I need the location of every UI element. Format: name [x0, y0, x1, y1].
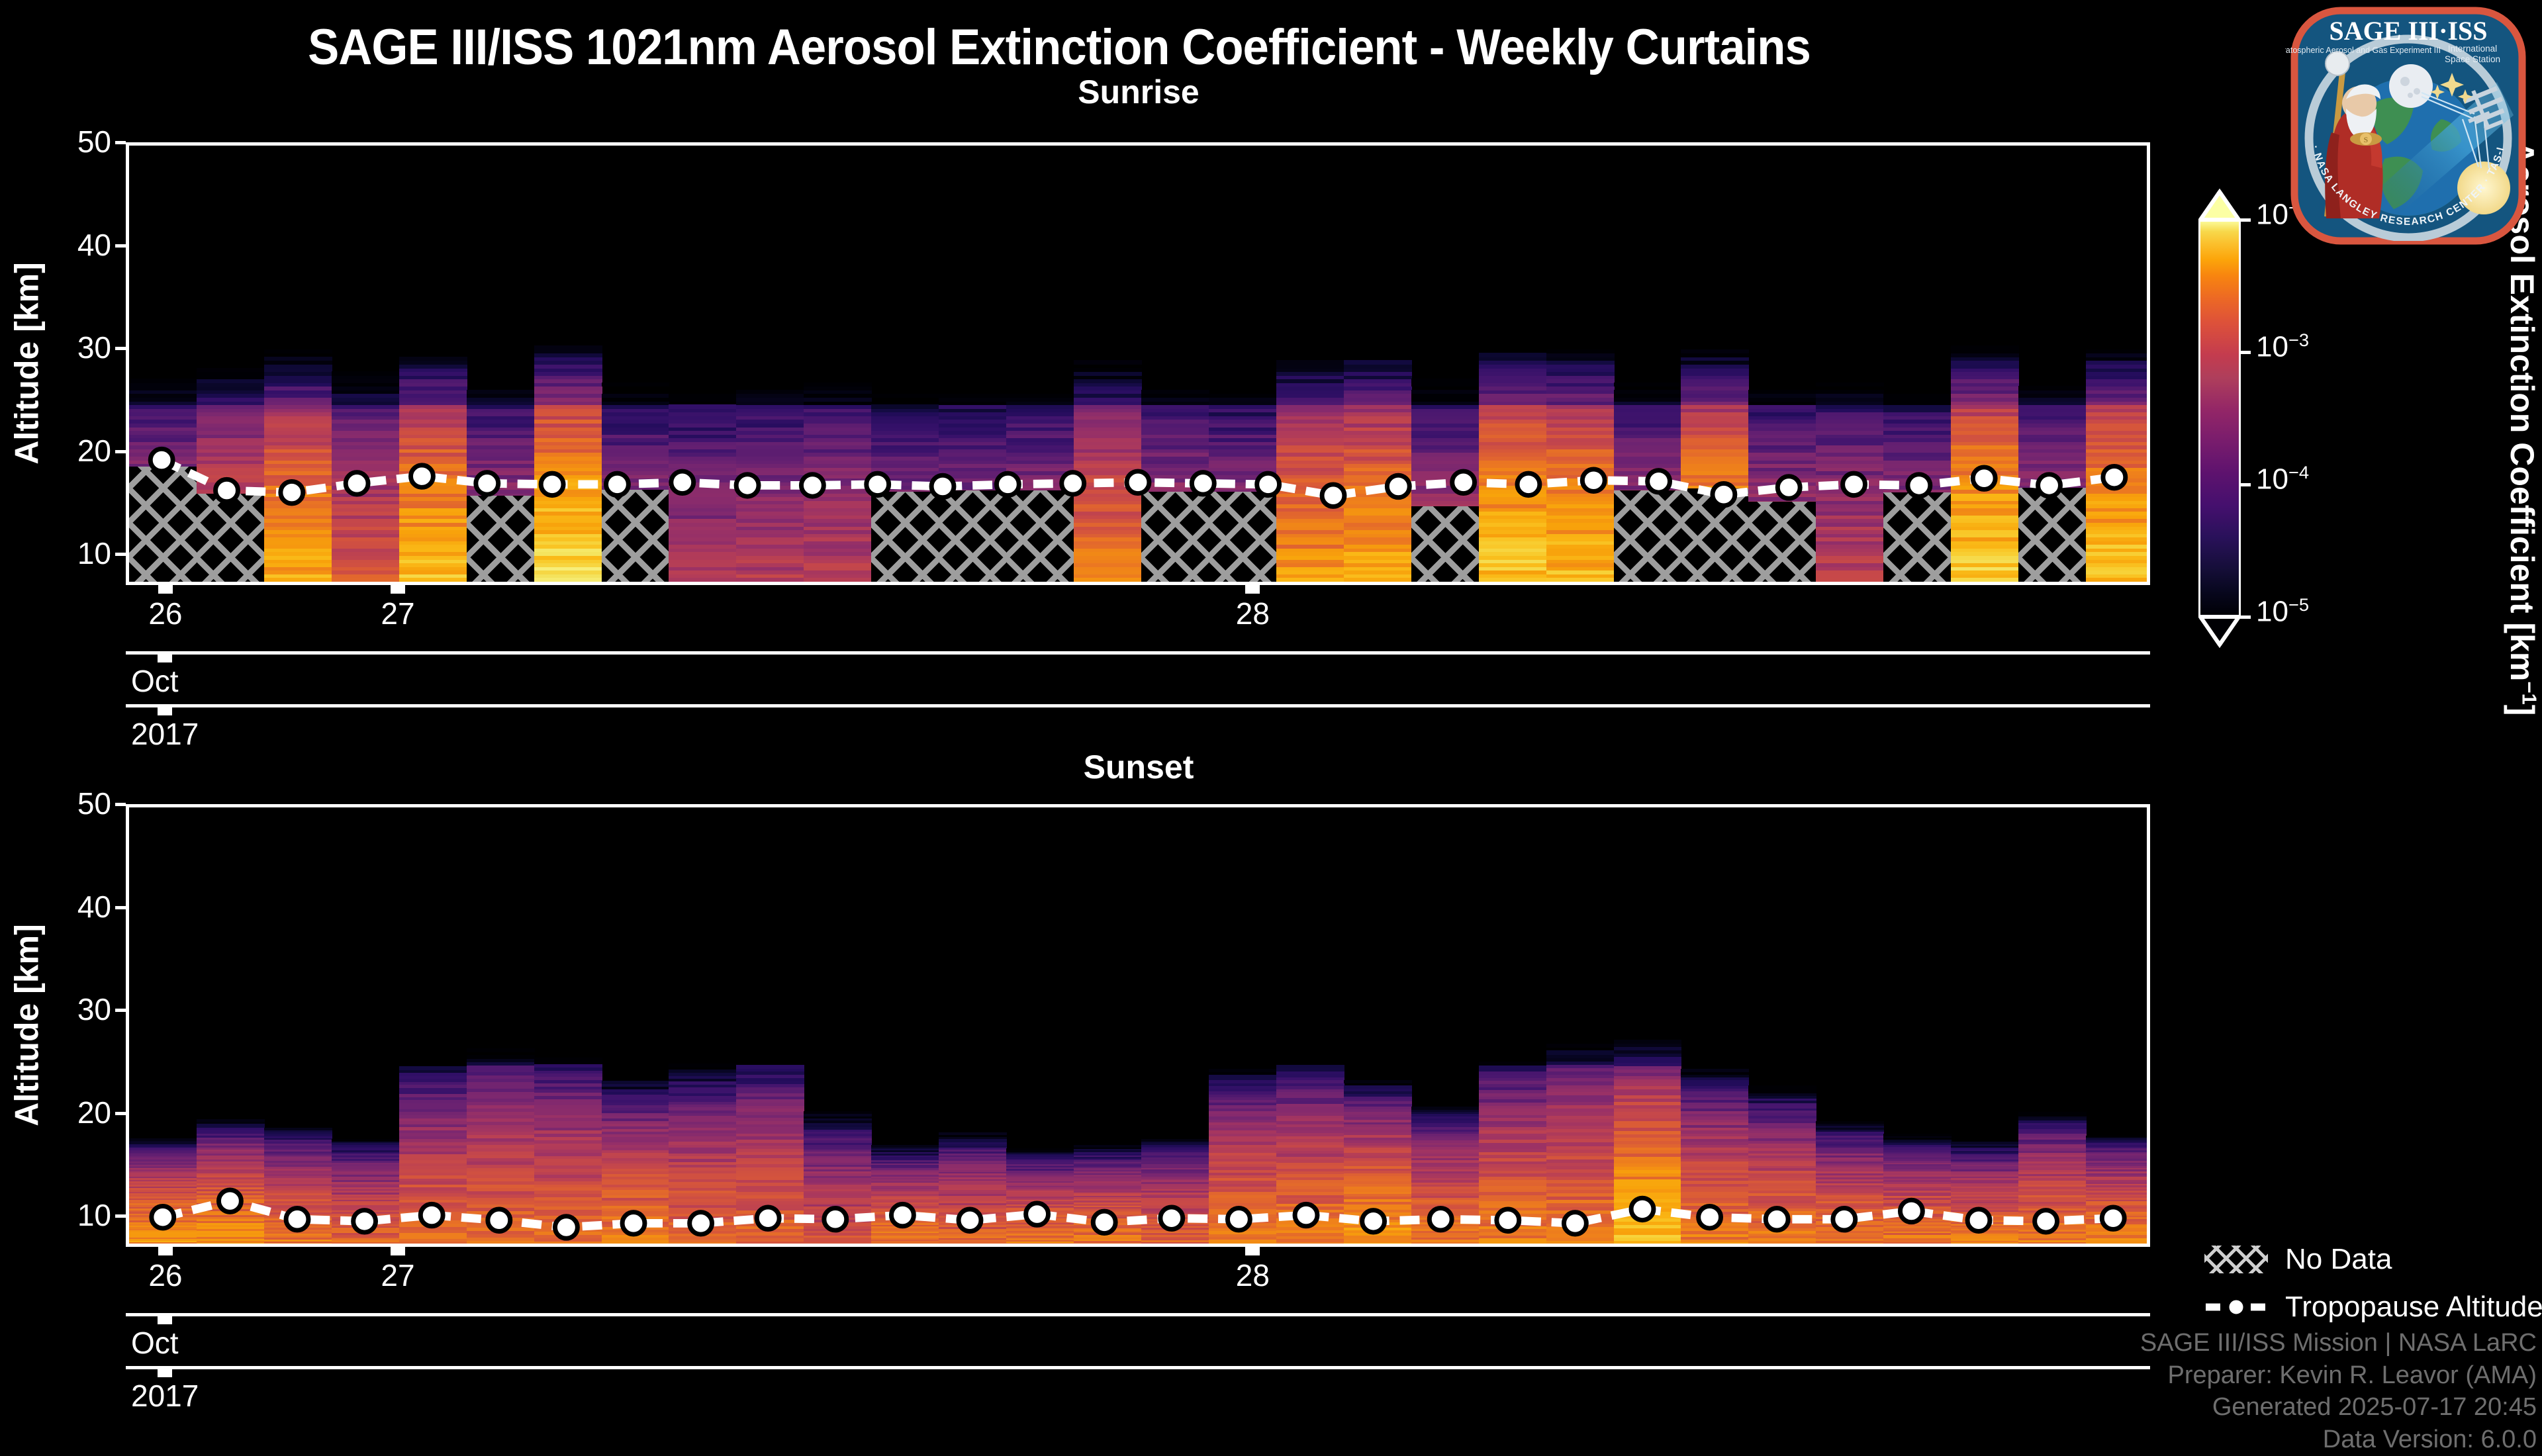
x-axis-level-rule-sunrise-month: [126, 651, 2150, 655]
heatmap-cell: [1816, 1244, 1884, 1247]
heatmap-cell: [804, 1246, 872, 1247]
no-data-hatch-region: [1141, 492, 1209, 585]
heatmap-cell: [939, 1132, 1007, 1135]
colorbar-tick-label-10e-4: 10−4: [2256, 462, 2309, 496]
footer-line-preparer: Preparer: Kevin R. Leavor (AMA): [2140, 1359, 2537, 1392]
heatmap-cell: [1006, 1244, 1074, 1246]
heatmap-cell: [1209, 1245, 1277, 1247]
heatmap-cell: [197, 1246, 265, 1247]
heatmap-cell: [467, 1048, 535, 1052]
heatmap-cell: [1074, 1246, 1142, 1247]
heatmap-column: [264, 807, 332, 1244]
y-tick-label-sunrise-50: 50: [38, 124, 111, 159]
heatmap-cell: [1074, 584, 1142, 585]
heatmap-cell: [1006, 1246, 1074, 1247]
no-data-hatch-region: [871, 492, 939, 585]
heatmap-sunset: [129, 807, 2147, 1244]
heatmap-cell: [1816, 584, 1884, 585]
heatmap-cell: [669, 584, 737, 585]
heatmap-cell: [2018, 1112, 2087, 1115]
heatmap-cell: [669, 394, 737, 398]
y-tick-label-sunset-50: 50: [38, 786, 111, 821]
heatmap-cell: [1411, 379, 1480, 383]
colorbar-gradient: [2200, 220, 2239, 617]
x-tick-label-sunset-day-28: 28: [1186, 1257, 1319, 1293]
heatmap-column: [264, 146, 332, 582]
x-tick-mark-sunrise-28: [1245, 585, 1260, 594]
heatmap-cell: [264, 584, 332, 585]
heatmap-cell: [264, 1246, 332, 1247]
heatmap-column: [332, 807, 400, 1244]
x-tick-mark-sunrise-26: [158, 585, 173, 594]
heatmap-cell: [1344, 1085, 1412, 1089]
heatmap-column: [197, 807, 265, 1244]
heatmap-cell: [399, 584, 467, 585]
heatmap-cell: [1074, 1145, 1142, 1147]
x-tick-label-sunrise-day-28: 28: [1186, 596, 1319, 631]
heatmap-cell: [1748, 1085, 1816, 1089]
heatmap-cell: [2086, 1245, 2150, 1247]
heatmap-cell: [1411, 1246, 1480, 1247]
heatmap-cell: [467, 1244, 535, 1247]
heatmap-cell: [1344, 1080, 1412, 1083]
heatmap-column: [1546, 807, 1615, 1244]
heatmap-cell: [939, 1245, 1007, 1247]
heatmap-cell: [804, 1111, 872, 1114]
y-tick-label-sunset-10: 10: [38, 1197, 111, 1233]
heatmap-cell: [197, 1244, 265, 1247]
heatmap-cell: [1141, 1245, 1209, 1247]
footer-metadata: SAGE III/ISS Mission | NASA LaRC Prepare…: [2140, 1327, 2537, 1456]
heatmap-column: [1681, 807, 1749, 1244]
x-tick-mark-sunset-27: [391, 1247, 405, 1255]
x-tick-mark-sunset-26: [158, 1247, 173, 1255]
heatmap-cell: [1141, 1139, 1209, 1142]
heatmap-cell: [399, 357, 467, 361]
heatmap-cell: [1748, 1245, 1816, 1247]
heatmap-cell: [1614, 383, 1682, 387]
logo-subtitle-right-2: Space Station: [2445, 54, 2500, 64]
heatmap-cell: [2018, 386, 2087, 390]
heatmap-cell: [1479, 353, 1547, 357]
heatmap-cell: [264, 349, 332, 354]
heatmap-column: [1006, 807, 1074, 1244]
heatmap-cell: [669, 1064, 737, 1067]
heatmap-column: [1276, 807, 1344, 1244]
heatmap-cell: [1074, 360, 1142, 365]
y-tick-mark-sunrise-20: [115, 450, 126, 453]
heatmap-cell: [332, 584, 400, 585]
no-data-hatch-region: [1411, 506, 1480, 585]
heatmap-cell: [467, 390, 535, 394]
heatmap-cell: [2086, 1136, 2150, 1138]
colorbar[interactable]: [2191, 185, 2251, 649]
heatmap-column: [1883, 807, 1952, 1244]
x-tick-label-sunrise-day-27: 27: [332, 596, 464, 631]
y-tick-mark-sunset-30: [115, 1009, 126, 1012]
y-tick-mark-sunrise-50: [115, 141, 126, 144]
heatmap-cell: [602, 1081, 670, 1084]
panel-title-sunrise: Sunrise: [126, 73, 2151, 111]
heatmap-column: [1411, 807, 1480, 1244]
heatmap-column: [1479, 146, 1547, 582]
heatmap-cell: [1951, 1244, 2019, 1246]
y-tick-mark-sunrise-30: [115, 347, 126, 350]
heatmap-column: [1276, 146, 1344, 582]
heatmap-cell: [1816, 1246, 1884, 1247]
heatmap-cell: [1276, 360, 1344, 365]
no-data-hatch-region: [1748, 502, 1816, 585]
heatmap-cell: [197, 1119, 265, 1122]
heatmap-cell: [1074, 368, 1142, 373]
heatmap-column: [1344, 807, 1412, 1244]
heatmap-cell: [534, 1244, 602, 1247]
heatmap-cell: [1209, 1069, 1277, 1072]
heatmap-cell: [871, 1246, 939, 1247]
no-data-hatch-region: [129, 467, 197, 585]
heatmap-column: [1479, 807, 1547, 1244]
heatmap-cell: [1344, 360, 1412, 365]
heatmap-cell: [1276, 1065, 1344, 1068]
y-tick-label-sunrise-30: 30: [38, 330, 111, 365]
heatmap-column: [1546, 146, 1615, 582]
heatmap-cell: [1344, 584, 1412, 585]
colorbar-tick-label-10e-3: 10−3: [2256, 330, 2309, 364]
legend-label-tropopause: Tropopause Altitude: [2285, 1291, 2542, 1324]
heatmap-column: [129, 807, 197, 1244]
heatmap-column: [1074, 807, 1142, 1244]
heatmap-cell: [1479, 1062, 1547, 1066]
heatmap-cell: [1006, 1148, 1074, 1150]
heatmap-column: [332, 146, 400, 582]
heatmap-cell: [467, 1055, 535, 1059]
no-data-hatch-region: [1883, 492, 1952, 585]
heatmap-cell: [264, 1244, 332, 1247]
heatmap-cell: [939, 394, 1007, 398]
x-tick-mark-sunrise-27: [391, 585, 405, 594]
heatmap-column: [804, 807, 872, 1244]
heatmap-column: [1951, 807, 2019, 1244]
x-axis-level-label-sunset-year: 2017: [131, 1378, 199, 1414]
heatmap-cell: [1546, 1050, 1615, 1054]
heatmap-cell: [1816, 383, 1884, 387]
heatmap-column: [1816, 807, 1884, 1244]
x-tick-mark-sunrise-year: [158, 707, 172, 715]
x-tick-label-sunset-day-26: 26: [99, 1257, 232, 1293]
x-axis-level-label-sunset-month: Oct: [131, 1325, 179, 1361]
colorbar-tick-mark-10e-3: [2239, 351, 2251, 354]
x-axis-level-rule-sunset-year: [126, 1366, 2150, 1369]
heatmap-column: [1816, 146, 1884, 582]
heatmap-column: [1141, 807, 1209, 1244]
heatmap-column: [2086, 807, 2150, 1244]
heatmap-column: [602, 807, 670, 1244]
heatmap-cell: [1411, 1244, 1480, 1246]
x-tick-mark-sunset-year: [158, 1369, 172, 1377]
heatmap-cell: [736, 390, 804, 394]
heatmap-cell: [939, 1246, 1007, 1247]
heatmap-cell: [1546, 1244, 1615, 1247]
heatmap-cell: [1411, 1107, 1480, 1109]
heatmap-cell: [669, 1069, 737, 1073]
x-axis-level-rule-sunset-month: [126, 1313, 2150, 1316]
x-tick-mark-sunset-28: [1245, 1247, 1260, 1255]
x-tick-mark-sunset-month: [158, 1316, 172, 1324]
heatmap-cell: [332, 1139, 400, 1142]
tropopause-line-swatch: [2204, 1293, 2268, 1321]
heatmap-column: [534, 807, 602, 1244]
heatmap-cell: [1816, 1121, 1884, 1124]
sage-iii-iss-mission-patch: S SAGE III·ISS Stratospheric Aerosol and…: [2285, 3, 2531, 249]
heatmap-cell: [602, 394, 670, 398]
footer-line-mission: SAGE III/ISS Mission | NASA LaRC: [2140, 1327, 2537, 1359]
heatmap-cell: [129, 1244, 197, 1246]
panel-title-sunset: Sunset: [126, 748, 2151, 786]
heatmap-cell: [871, 394, 939, 398]
heatmap-cell: [1883, 1245, 1952, 1247]
heatmap-cell: [804, 584, 872, 585]
heatmap-cell: [602, 383, 670, 387]
x-tick-label-sunrise-day-26: 26: [99, 596, 232, 631]
heatmap-cell: [1614, 1244, 1682, 1247]
y-tick-mark-sunset-50: [115, 803, 126, 806]
y-tick-mark-sunset-20: [115, 1112, 126, 1115]
heatmap-cell: [399, 1066, 467, 1070]
plot-area-sunrise[interactable]: [126, 142, 2150, 585]
heatmap-column: [736, 146, 804, 582]
no-data-hatch-region: [939, 490, 1007, 585]
y-tick-mark-sunrise-40: [115, 244, 126, 248]
y-tick-label-sunset-40: 40: [38, 889, 111, 925]
heatmap-cell: [871, 1244, 939, 1246]
heatmap-cell: [1546, 349, 1615, 354]
heatmap-cell: [264, 1128, 332, 1130]
page-title: SAGE III/ISS 1021nm Aerosol Extinction C…: [74, 19, 2044, 76]
heatmap-cell: [1276, 1244, 1344, 1247]
y-tick-mark-sunset-40: [115, 906, 126, 909]
no-data-hatch-region: [1209, 492, 1277, 585]
heatmap-cell: [2086, 584, 2150, 585]
heatmap-cell: [534, 345, 602, 350]
x-axis-level-rule-sunrise-year: [126, 704, 2150, 707]
heatmap-column: [534, 146, 602, 582]
heatmap-cell: [736, 1244, 804, 1247]
no-data-hatch-region: [467, 496, 535, 585]
no-data-hatch-region: [602, 490, 670, 585]
heatmap-cell: [1816, 390, 1884, 394]
heatmap-cell: [1276, 584, 1344, 585]
x-tick-label-sunset-day-27: 27: [332, 1257, 464, 1293]
heatmap-column: [1209, 807, 1277, 1244]
legend-item-no-data: No Data: [2204, 1243, 2392, 1276]
y-tick-mark-sunset-10: [115, 1214, 126, 1218]
colorbar-tick-mark-10e-2: [2239, 218, 2251, 222]
x-axis-level-label-sunrise-month: Oct: [131, 663, 179, 699]
heatmap-cell: [2018, 1244, 2087, 1246]
y-tick-label-sunset-20: 20: [38, 1095, 111, 1130]
heatmap-column: [1074, 146, 1142, 582]
heatmap-cell: [332, 1245, 400, 1247]
heatmap-cell: [2018, 1246, 2087, 1247]
no-data-hatch-region: [1006, 490, 1074, 585]
heatmap-cell: [871, 404, 939, 409]
y-tick-mark-sunrise-10: [115, 553, 126, 556]
heatmap-sunrise: [129, 146, 2147, 582]
legend-label-no-data: No Data: [2285, 1243, 2392, 1276]
heatmap-cell: [399, 1244, 467, 1247]
heatmap-cell: [129, 379, 197, 383]
no-data-hatch-region: [2018, 488, 2087, 585]
heatmap-cell: [332, 371, 400, 376]
heatmap-cell: [534, 584, 602, 585]
heatmap-cell: [669, 404, 737, 409]
colorbar-tick-mark-10e-4: [2239, 483, 2251, 486]
heatmap-cell: [1681, 349, 1749, 354]
heatmap-cell: [1546, 1044, 1615, 1048]
heatmap-column: [669, 146, 737, 582]
heatmap-cell: [534, 1058, 602, 1062]
heatmap-column: [1748, 807, 1816, 1244]
heatmap-column: [736, 807, 804, 1244]
heatmap-column: [399, 807, 467, 1244]
heatmap-cell: [1951, 1142, 2019, 1144]
heatmap-cell: [1141, 390, 1209, 394]
y-tick-label-sunset-30: 30: [38, 991, 111, 1027]
heatmap-cell: [1074, 1244, 1142, 1246]
heatmap-column: [399, 146, 467, 582]
colorbar-tick-label-10e-5: 10−5: [2256, 594, 2309, 629]
heatmap-column: [804, 146, 872, 582]
y-tick-label-sunrise-10: 10: [38, 535, 111, 571]
heatmap-column: [467, 807, 535, 1244]
logo-subtitle-left: Stratospheric Aerosol and Gas Experiment…: [2285, 46, 2441, 55]
heatmap-cell: [736, 1065, 804, 1069]
heatmap-cell: [2086, 349, 2150, 354]
heatmap-cell: [1209, 394, 1277, 398]
heatmap-cell: [1951, 345, 2019, 350]
heatmap-cell: [1951, 1245, 2019, 1247]
no-data-hatch-swatch: [2204, 1246, 2268, 1273]
footer-line-version: Data Version: 6.0.0: [2140, 1424, 2537, 1456]
colorbar-tick-mark-10e-5: [2239, 615, 2251, 619]
footer-line-generated: Generated 2025-07-17 20:45: [2140, 1391, 2537, 1424]
heatmap-column: [2086, 146, 2150, 582]
heatmap-cell: [871, 1145, 939, 1147]
y-tick-label-sunrise-20: 20: [38, 433, 111, 469]
heatmap-cell: [1681, 1069, 1749, 1072]
heatmap-cell: [1479, 584, 1547, 585]
heatmap-cell: [804, 1244, 872, 1246]
heatmap-cell: [1681, 1245, 1749, 1247]
heatmap-cell: [1411, 390, 1480, 394]
heatmap-cell: [1883, 394, 1952, 398]
plot-area-sunset[interactable]: [126, 804, 2150, 1247]
heatmap-cell: [129, 1138, 197, 1141]
heatmap-cell: [1951, 584, 2019, 585]
x-tick-mark-sunrise-month: [158, 654, 172, 662]
x-axis-level-label-sunrise-year: 2017: [131, 716, 199, 752]
heatmap-cell: [602, 1245, 670, 1247]
heatmap-column: [1951, 146, 2019, 582]
y-tick-label-sunrise-40: 40: [38, 227, 111, 263]
heatmap-cell: [264, 357, 332, 361]
logo-title: SAGE III·ISS: [2329, 16, 2487, 46]
heatmap-cell: [1006, 394, 1074, 398]
heatmap-cell: [736, 584, 804, 585]
heatmap-cell: [1546, 584, 1615, 585]
svg-text:S: S: [2364, 135, 2369, 144]
heatmap-column: [2018, 807, 2087, 1244]
heatmap-column: [871, 807, 939, 1244]
heatmap-cell: [1614, 1040, 1682, 1044]
heatmap-cell: [1883, 1134, 1952, 1136]
heatmap-cell: [804, 383, 872, 387]
heatmap-cell: [1344, 1245, 1412, 1247]
heatmap-column: [1344, 146, 1412, 582]
legend-item-tropopause: Tropopause Altitude: [2204, 1291, 2542, 1324]
heatmap-column: [669, 807, 737, 1244]
heatmap-cell: [1614, 390, 1682, 394]
no-data-hatch-region: [1681, 488, 1749, 585]
no-data-hatch-region: [197, 494, 265, 585]
logo-subtitle-right-1: International: [2448, 44, 2497, 54]
no-data-hatch-region: [1614, 490, 1682, 585]
heatmap-cell: [197, 368, 265, 373]
heatmap-cell: [1748, 390, 1816, 394]
heatmap-cell: [669, 1244, 737, 1247]
heatmap-cell: [1479, 1244, 1547, 1247]
heatmap-column: [939, 807, 1007, 1244]
heatmap-column: [1614, 807, 1682, 1244]
